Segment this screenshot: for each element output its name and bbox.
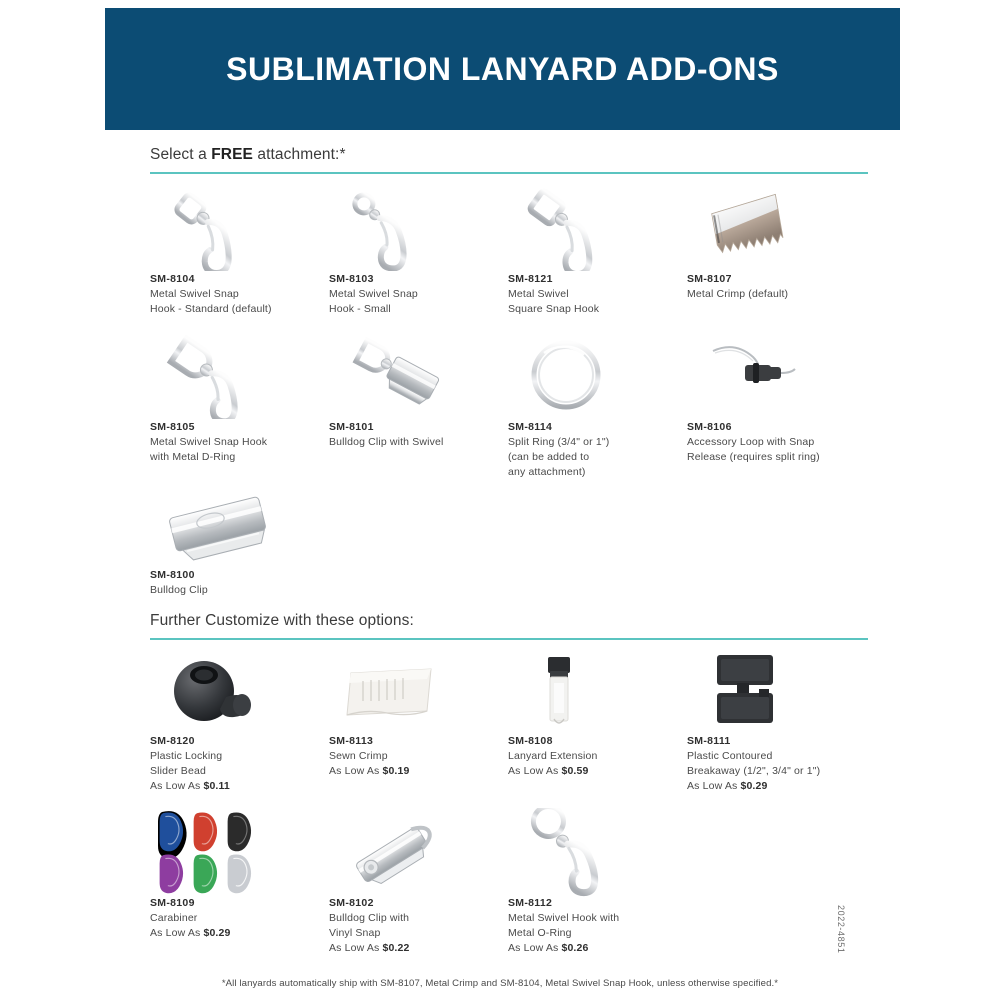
- section-divider: [150, 172, 868, 174]
- product-desc-line-2: Slider Bead: [150, 764, 315, 779]
- product-desc-line-2: with Metal D-Ring: [150, 450, 315, 465]
- price-value: $0.29: [740, 780, 767, 792]
- free-attachments-heading: Select a FREE attachment:*: [150, 146, 868, 164]
- price-value: $0.11: [203, 780, 229, 792]
- price-value: $0.19: [382, 765, 409, 777]
- accessory-loop-snap-release-icon: [687, 334, 866, 420]
- carabiner-icon: [150, 810, 329, 896]
- product-desc-line-2: (can be added to: [508, 450, 673, 465]
- product-sku: SM-8103: [329, 272, 508, 287]
- product-desc-line-1: Sewn Crimp: [329, 749, 494, 764]
- product-sku: SM-8112: [508, 896, 687, 911]
- product-sku: SM-8101: [329, 420, 508, 435]
- product-desc-line-1: Lanyard Extension: [508, 749, 673, 764]
- metal-swivel-square-snap-hook-icon: [508, 186, 687, 272]
- product-price: As Low As $0.29: [150, 926, 329, 941]
- free-attachments-row-1: SM-8104 Metal Swivel Snap Hook - Standar…: [150, 186, 868, 317]
- section-divider-2: [150, 638, 868, 640]
- metal-swivel-snap-hook-small-icon: [329, 186, 508, 272]
- product-desc-line-1: Metal Swivel Snap: [150, 287, 315, 302]
- footer-disclaimer: *All lanyards automatically ship with SM…: [0, 978, 1000, 989]
- product-sku: SM-8107: [687, 272, 866, 287]
- product-desc-line-2: Vinyl Snap: [329, 926, 494, 941]
- product-desc-line-1: Bulldog Clip with: [329, 911, 494, 926]
- price-value: $0.26: [561, 942, 588, 954]
- side-reference-code: 2022-4851: [836, 905, 846, 953]
- bulldog-clip-vinyl-snap-icon: [329, 810, 508, 896]
- price-value: $0.29: [203, 927, 230, 939]
- product-card-sm-8121[interactable]: SM-8121 Metal Swivel Square Snap Hook: [508, 186, 687, 317]
- product-card-sm-8105[interactable]: SM-8105 Metal Swivel Snap Hook with Meta…: [150, 334, 329, 480]
- product-card-sm-8106[interactable]: SM-8106 Accessory Loop with Snap Release…: [687, 334, 866, 480]
- price-prefix: As Low As: [329, 765, 382, 777]
- price-prefix: As Low As: [150, 780, 203, 792]
- product-price: As Low As $0.19: [329, 764, 508, 779]
- price-prefix: As Low As: [508, 765, 561, 777]
- product-desc-line-3: any attachment): [508, 465, 673, 480]
- sewn-crimp-icon: [329, 648, 508, 734]
- catalog-page: SUBLIMATION LANYARD ADD-ONS Select a FRE…: [0, 0, 1000, 1000]
- product-desc-line-1: Metal Swivel Snap: [329, 287, 494, 302]
- price-prefix: As Low As: [687, 780, 740, 792]
- product-card-sm-8102[interactable]: SM-8102 Bulldog Clip with Vinyl Snap As …: [329, 810, 508, 956]
- product-price: As Low As $0.29: [687, 779, 866, 794]
- customize-heading: Further Customize with these options:: [150, 612, 868, 630]
- product-desc-line-1: Accessory Loop with Snap: [687, 435, 852, 450]
- product-desc-line-2: Hook - Small: [329, 302, 494, 317]
- product-sku: SM-8109: [150, 896, 329, 911]
- product-card-sm-8113[interactable]: SM-8113 Sewn Crimp As Low As $0.19: [329, 648, 508, 794]
- product-desc-line-2: Square Snap Hook: [508, 302, 673, 317]
- heading-suffix: attachment:*: [253, 146, 346, 163]
- product-desc-line-1: Metal Swivel Snap Hook: [150, 435, 315, 450]
- product-card-sm-8114[interactable]: SM-8114 Split Ring (3/4" or 1") (can be …: [508, 334, 687, 480]
- metal-crimp-icon: [687, 186, 866, 272]
- product-sku: SM-8104: [150, 272, 329, 287]
- product-sku: SM-8120: [150, 734, 329, 749]
- product-desc-line-2: Hook - Standard (default): [150, 302, 315, 317]
- free-attachments-row-3: SM-8100 Bulldog Clip: [150, 482, 868, 598]
- plastic-locking-slider-bead-icon: [150, 648, 329, 734]
- header-banner: SUBLIMATION LANYARD ADD-ONS: [105, 8, 900, 130]
- product-sku: SM-8105: [150, 420, 329, 435]
- product-desc-line-1: Carabiner: [150, 911, 315, 926]
- product-card-sm-8104[interactable]: SM-8104 Metal Swivel Snap Hook - Standar…: [150, 186, 329, 317]
- price-prefix: As Low As: [329, 942, 382, 954]
- product-desc-line-1: Plastic Locking: [150, 749, 315, 764]
- bulldog-clip-with-swivel-icon: [329, 334, 508, 420]
- product-sku: SM-8114: [508, 420, 687, 435]
- product-card-sm-8120[interactable]: SM-8120 Plastic Locking Slider Bead As L…: [150, 648, 329, 794]
- bulldog-clip-icon: [150, 482, 329, 568]
- product-sku: SM-8108: [508, 734, 687, 749]
- product-desc-line-2: Metal O-Ring: [508, 926, 673, 941]
- product-desc-line-1: Split Ring (3/4" or 1"): [508, 435, 673, 450]
- metal-swivel-hook-o-ring-icon: [508, 810, 687, 896]
- product-desc-line-1: Plastic Contoured: [687, 749, 852, 764]
- product-price: As Low As $0.22: [329, 941, 508, 956]
- free-attachments-section: Select a FREE attachment:*: [150, 146, 868, 180]
- product-desc-line-1: Metal Swivel Hook with: [508, 911, 673, 926]
- product-card-sm-8100[interactable]: SM-8100 Bulldog Clip: [150, 482, 329, 598]
- product-desc-line-1: Bulldog Clip: [150, 583, 315, 598]
- price-value: $0.22: [382, 942, 409, 954]
- page-title: SUBLIMATION LANYARD ADD-ONS: [226, 51, 779, 88]
- product-sku: SM-8121: [508, 272, 687, 287]
- product-card-sm-8109[interactable]: SM-8109 Carabiner As Low As $0.29: [150, 810, 329, 956]
- plastic-contoured-breakaway-icon: [687, 648, 866, 734]
- product-sku: SM-8113: [329, 734, 508, 749]
- free-attachments-row-2: SM-8105 Metal Swivel Snap Hook with Meta…: [150, 334, 868, 480]
- heading-bold: FREE: [211, 146, 253, 163]
- product-price: As Low As $0.11: [150, 779, 329, 794]
- product-sku: SM-8102: [329, 896, 508, 911]
- product-desc-line-1: Metal Crimp (default): [687, 287, 852, 302]
- customize-row-1: SM-8120 Plastic Locking Slider Bead As L…: [150, 648, 868, 794]
- metal-swivel-snap-hook-d-ring-icon: [150, 334, 329, 420]
- product-sku: SM-8111: [687, 734, 866, 749]
- product-card-sm-8112[interactable]: SM-8112 Metal Swivel Hook with Metal O-R…: [508, 810, 687, 956]
- product-sku: SM-8100: [150, 568, 329, 583]
- product-price: As Low As $0.26: [508, 941, 687, 956]
- product-price: As Low As $0.59: [508, 764, 687, 779]
- product-desc-line-1: Metal Swivel: [508, 287, 673, 302]
- price-value: $0.59: [561, 765, 588, 777]
- product-card-sm-8107[interactable]: SM-8107 Metal Crimp (default): [687, 186, 866, 317]
- heading-prefix: Select a: [150, 146, 211, 163]
- customize-section: Further Customize with these options:: [150, 612, 868, 646]
- product-desc-line-2: Release (requires split ring): [687, 450, 852, 465]
- price-prefix: As Low As: [150, 927, 203, 939]
- product-card-sm-8101[interactable]: SM-8101 Bulldog Clip with Swivel: [329, 334, 508, 480]
- price-prefix: As Low As: [508, 942, 561, 954]
- product-desc-line-2: Breakaway (1/2", 3/4" or 1"): [687, 764, 852, 779]
- lanyard-extension-icon: [508, 648, 687, 734]
- product-card-sm-8111[interactable]: SM-8111 Plastic Contoured Breakaway (1/2…: [687, 648, 866, 794]
- product-sku: SM-8106: [687, 420, 866, 435]
- product-card-sm-8108[interactable]: SM-8108 Lanyard Extension As Low As $0.5…: [508, 648, 687, 794]
- product-card-sm-8103[interactable]: SM-8103 Metal Swivel Snap Hook - Small: [329, 186, 508, 317]
- split-ring-icon: [508, 334, 687, 420]
- product-desc-line-1: Bulldog Clip with Swivel: [329, 435, 494, 450]
- metal-swivel-snap-hook-standard-icon: [150, 186, 329, 272]
- customize-row-2: SM-8109 Carabiner As Low As $0.29: [150, 810, 868, 956]
